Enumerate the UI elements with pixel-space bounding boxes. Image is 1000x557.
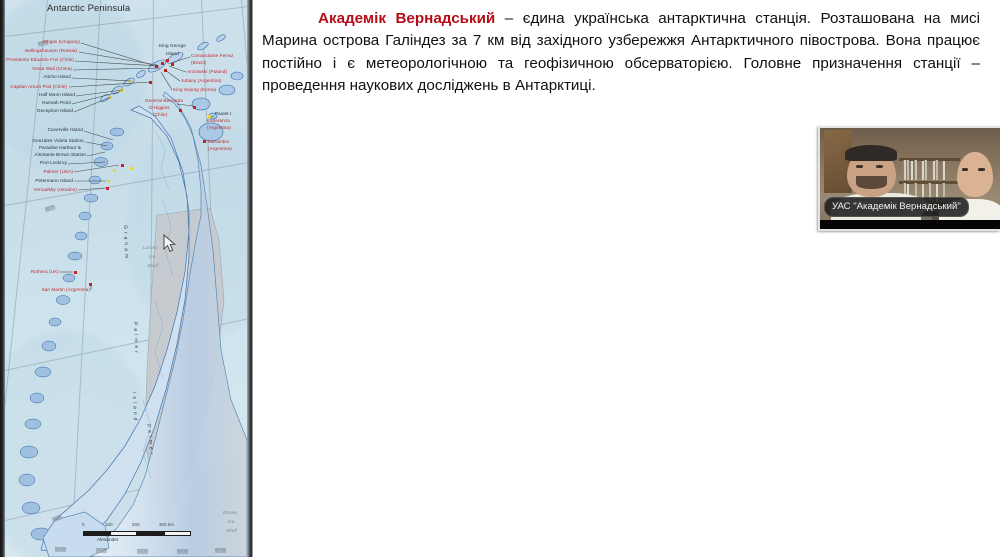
person-right-eye (978, 168, 984, 170)
person-left-eye (856, 165, 863, 168)
label-leader-lines (5, 0, 247, 557)
book (942, 161, 945, 179)
mouse-cursor (163, 234, 176, 253)
longitude-label: 80°W (55, 547, 66, 552)
book (910, 161, 913, 179)
scale-tick-300: 300 km (159, 523, 174, 528)
longitude-label: 75°W (96, 548, 107, 553)
video-caption-label: УАС "Академік Вернадський" (824, 197, 969, 217)
scale-tick-200: 200 (132, 523, 140, 528)
map-right-border (247, 0, 253, 557)
person-right-eye (962, 168, 968, 170)
map-canvas: Antarctic Peninsula 60°S 65°S 70°S Artig… (5, 0, 247, 557)
book (914, 160, 917, 179)
presentation-slide: Antarctic Peninsula 60°S 65°S 70°S Artig… (0, 0, 1000, 557)
video-bottom-bar (820, 220, 1000, 229)
person-left-hair (845, 145, 897, 161)
longitude-label: 60°W (215, 548, 226, 553)
scale-tick-100: 100 (105, 523, 113, 528)
book (935, 160, 938, 179)
book (921, 161, 924, 179)
longitude-label: 70°W (137, 549, 148, 554)
longitude-label: 65°W (177, 549, 188, 554)
person-left-beard (856, 176, 887, 188)
book (906, 160, 909, 179)
video-call-thumbnail[interactable]: УАС "Академік Вернадський" (818, 126, 1000, 231)
map-left-border (0, 0, 5, 557)
station-name-emphasis: Академік Вернадський (318, 10, 495, 27)
slide-body-text: Академік Вернадський – єдина українська … (262, 8, 980, 97)
antarctic-peninsula-map[interactable]: Antarctic Peninsula 60°S 65°S 70°S Artig… (0, 0, 253, 557)
video-caption-wrapper: УАС "Академік Вернадський" (824, 196, 969, 217)
person-left-eye (876, 165, 883, 168)
person-right-head (957, 152, 993, 196)
map-scale-bar (83, 531, 191, 537)
book (903, 160, 906, 179)
book (924, 160, 927, 179)
book (932, 161, 935, 179)
scale-tick-0: 0 (82, 523, 85, 528)
video-frame: УАС "Академік Вернадський" (820, 128, 1000, 229)
